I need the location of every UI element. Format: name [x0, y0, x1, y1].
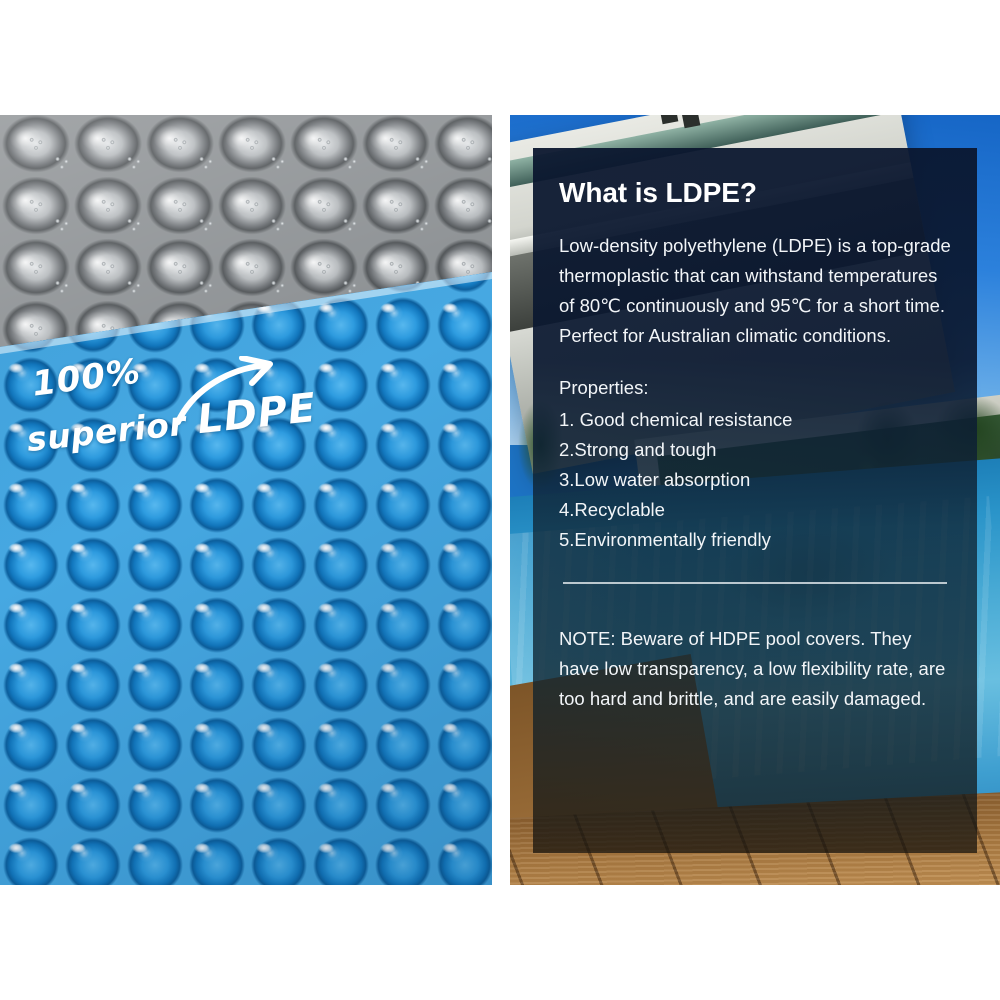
properties-list: 1. Good chemical resistance 2.Strong and…: [559, 405, 951, 555]
infographic-canvas: 100% superior LDPE: [0, 0, 1000, 1000]
callout-superior-word: superior: [25, 404, 188, 459]
superior-ldpe-callout: 100% superior LDPE: [26, 358, 326, 453]
list-item: 5.Environmentally friendly: [559, 525, 951, 555]
section-divider: [563, 582, 947, 584]
info-card-note: NOTE: Beware of HDPE pool covers. They h…: [559, 624, 951, 714]
info-card-overlay: What is LDPE? Low-density polyethylene (…: [533, 148, 977, 853]
list-item: 2.Strong and tough: [559, 435, 951, 465]
info-card-title: What is LDPE?: [559, 178, 951, 209]
callout-line-1: 100%: [30, 352, 143, 405]
info-card-paragraph: Low-density polyethylene (LDPE) is a top…: [559, 231, 951, 351]
right-info-panel: What is LDPE? Low-density polyethylene (…: [510, 115, 1000, 885]
left-material-panel: 100% superior LDPE: [0, 115, 492, 885]
list-item: 1. Good chemical resistance: [559, 405, 951, 435]
callout-ldpe-word: LDPE: [195, 385, 318, 443]
list-item: 4.Recyclable: [559, 495, 951, 525]
properties-label: Properties:: [559, 373, 951, 403]
list-item: 3.Low water absorption: [559, 465, 951, 495]
